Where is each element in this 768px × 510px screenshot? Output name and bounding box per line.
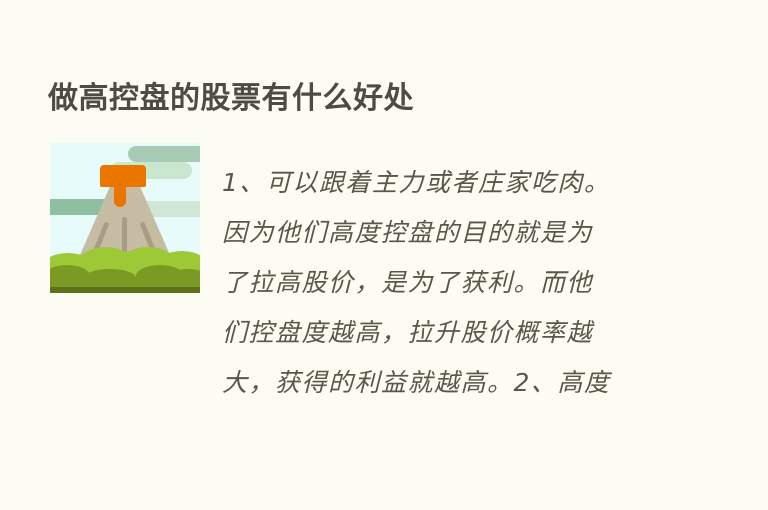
bush-front-2 — [84, 269, 136, 287]
page-title: 做高控盘的股票有什么好处 — [48, 78, 728, 120]
body-line: 1、可以跟着主力或者庄家吃肉。 — [222, 158, 652, 208]
article-body: 1、可以跟着主力或者庄家吃肉。 因为他们高度控盘的目的就是为 了拉高股价，是为了… — [222, 158, 652, 408]
cloud-top-right-icon — [128, 146, 200, 162]
bush-front-4 — [168, 269, 200, 287]
body-line: 因为他们高度控盘的目的就是为 — [222, 208, 652, 258]
volcano-illustration — [50, 143, 200, 293]
body-line: 们控盘度越高，拉升股价概率越 — [222, 308, 652, 358]
body-line: 了拉高股价，是为了获利。而他 — [222, 258, 652, 308]
article-card: 做高控盘的股票有什么好处 1、可以跟着主力或者庄家吃肉。 因为他们高度控盘的目的… — [0, 0, 768, 510]
lava-drip — [114, 179, 126, 207]
ground-strip — [50, 287, 200, 293]
body-line: 大，获得的利益就越高。2、高度 — [222, 358, 652, 408]
